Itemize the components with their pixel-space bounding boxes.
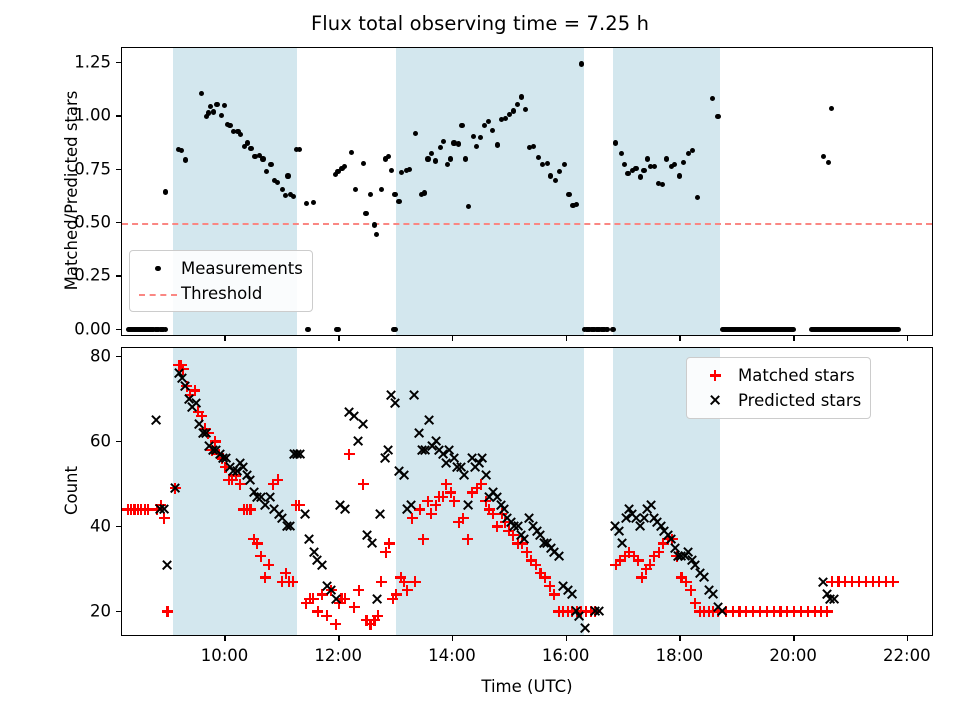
matplotlib-figure: Flux total observing time = 7.25 h 0.000…: [0, 0, 960, 720]
measurement-point: [413, 131, 418, 136]
ratio-y-tick: [116, 329, 121, 331]
shaded-band-2: [396, 348, 584, 635]
measurement-point: [519, 94, 524, 99]
measurement-point: [463, 156, 468, 161]
measurement-point: [478, 135, 483, 140]
threshold-dash-icon: [137, 283, 179, 305]
measurement-point: [363, 211, 368, 216]
ratio-y-tick: [116, 115, 121, 117]
measurement-point: [248, 146, 253, 151]
measurement-point: [579, 61, 584, 66]
measurement-point: [490, 128, 495, 133]
measurement-point: [695, 195, 700, 200]
measurement-point: [245, 140, 250, 145]
measurement-point: [183, 157, 188, 162]
x-tick-top: [907, 336, 909, 341]
x-tick-top: [679, 336, 681, 341]
x-tick-label: 22:00: [883, 646, 931, 665]
measurement-point: [392, 192, 397, 197]
measurement-point: [389, 168, 394, 173]
measurement-point: [553, 178, 558, 183]
measurement-point: [619, 151, 624, 156]
x-tick-bottom: [907, 636, 909, 641]
x-tick-top: [793, 336, 795, 341]
measurement-point: [211, 109, 216, 114]
measurement-point: [456, 141, 461, 146]
x-tick-bottom: [338, 636, 340, 641]
measurement-point: [163, 189, 168, 194]
legend-item-measurements[interactable]: Measurements: [137, 256, 303, 281]
measurement-point: [238, 132, 243, 137]
counts-y-tick: [116, 611, 121, 613]
measurement-point-zero: [306, 327, 311, 332]
x-tick-label: 20:00: [769, 646, 817, 665]
measurement-point: [545, 161, 550, 166]
measurement-point: [645, 156, 650, 161]
legend-label: Threshold: [179, 284, 262, 303]
x-tick-label: 10:00: [201, 646, 249, 665]
legend-label: Predicted stars: [736, 391, 861, 410]
measurement-point: [511, 108, 516, 113]
page-title: Flux total observing time = 7.25 h: [0, 12, 960, 35]
measurement-point: [304, 201, 309, 206]
measurement-point: [715, 114, 720, 119]
legend-item-threshold[interactable]: Threshold: [137, 281, 303, 306]
measurement-point: [677, 173, 682, 178]
ratio-axis-label: Matched/Predicted stars: [62, 46, 81, 335]
x-axis-label: Time (UTC): [121, 677, 933, 696]
legend-label: Measurements: [179, 259, 303, 278]
measurement-point: [386, 154, 391, 159]
x-tick-bottom: [452, 636, 454, 641]
measurement-point: [374, 232, 379, 237]
x-tick-top: [224, 336, 226, 341]
measurement-point: [368, 192, 373, 197]
measurement-point-zero: [791, 327, 796, 332]
measurement-point: [638, 174, 643, 179]
measurement-point: [311, 200, 316, 205]
shaded-band-3: [613, 48, 720, 335]
x-tick-label: 18:00: [656, 646, 704, 665]
measurement-point: [438, 145, 443, 150]
x-tick-label: 12:00: [314, 646, 362, 665]
measurement-point: [471, 134, 476, 139]
x-tick-bottom: [679, 636, 681, 641]
measurement-point: [219, 113, 224, 118]
measurement-point: [361, 161, 366, 166]
threshold-line: [122, 223, 932, 225]
measurement-point-zero: [896, 327, 901, 332]
ratio-y-tick: [116, 275, 121, 277]
measurement-point: [349, 150, 354, 155]
measurement-point: [495, 142, 500, 147]
legend-label: Matched stars: [736, 366, 855, 385]
measurement-point: [821, 154, 826, 159]
counts-axis-label: Count: [62, 346, 81, 635]
measurement-point: [562, 162, 567, 167]
measurement-dot-icon: [137, 258, 179, 280]
measurement-point: [710, 96, 715, 101]
ratio-y-tick: [116, 62, 121, 64]
measurement-point: [342, 164, 347, 169]
x-tick-bottom: [224, 636, 226, 641]
counts-y-tick: [116, 441, 121, 443]
x-tick-top: [338, 336, 340, 341]
counts-y-tick: [116, 356, 121, 358]
measurement-point: [531, 144, 536, 149]
plus-marker-icon: [694, 365, 736, 387]
measurement-point: [260, 156, 265, 161]
ratio-y-tick: [116, 222, 121, 224]
measurement-point-zero: [163, 327, 168, 332]
measurement-point: [353, 187, 358, 192]
measurement-point: [664, 156, 669, 161]
measurement-point: [660, 182, 665, 187]
measurement-point: [396, 199, 401, 204]
measurement-point: [214, 102, 219, 107]
measurement-point-zero: [336, 327, 341, 332]
measurement-point: [641, 168, 646, 173]
measurement-point: [486, 119, 491, 124]
measurement-point: [291, 194, 296, 199]
legend-item-matched-stars[interactable]: Matched stars: [694, 363, 861, 388]
measurement-point: [829, 106, 834, 111]
x-tick-label: 14:00: [428, 646, 476, 665]
measurement-point: [379, 187, 384, 192]
measurement-point: [826, 160, 831, 165]
x-tick-bottom: [793, 636, 795, 641]
measurement-point: [613, 140, 618, 145]
legend-item-predicted-stars[interactable]: Predicted stars: [694, 388, 861, 413]
ratio-y-tick: [116, 169, 121, 171]
measurement-point: [503, 116, 508, 121]
x-tick-bottom: [566, 636, 568, 641]
x-tick-top: [566, 336, 568, 341]
cross-marker-icon: [694, 390, 736, 412]
x-tick-label: 16:00: [542, 646, 590, 665]
legend-ratio: Measurements Threshold: [129, 250, 313, 312]
measurement-point: [429, 151, 434, 156]
measurement-point: [268, 162, 273, 167]
x-tick-top: [452, 336, 454, 341]
measurement-point: [422, 190, 427, 195]
measurement-point: [566, 192, 571, 197]
measurement-point: [445, 162, 450, 167]
measurement-point: [548, 173, 553, 178]
measurement-point: [283, 193, 288, 198]
measurement-point: [179, 148, 184, 153]
measurement-point: [425, 156, 430, 161]
measurement-point: [633, 166, 638, 171]
counts-y-tick: [116, 526, 121, 528]
measurement-point: [297, 147, 302, 152]
legend-counts: Matched stars Predicted stars: [686, 357, 871, 419]
measurement-point: [372, 222, 377, 227]
measurement-point: [448, 156, 453, 161]
measurement-point: [285, 173, 290, 178]
